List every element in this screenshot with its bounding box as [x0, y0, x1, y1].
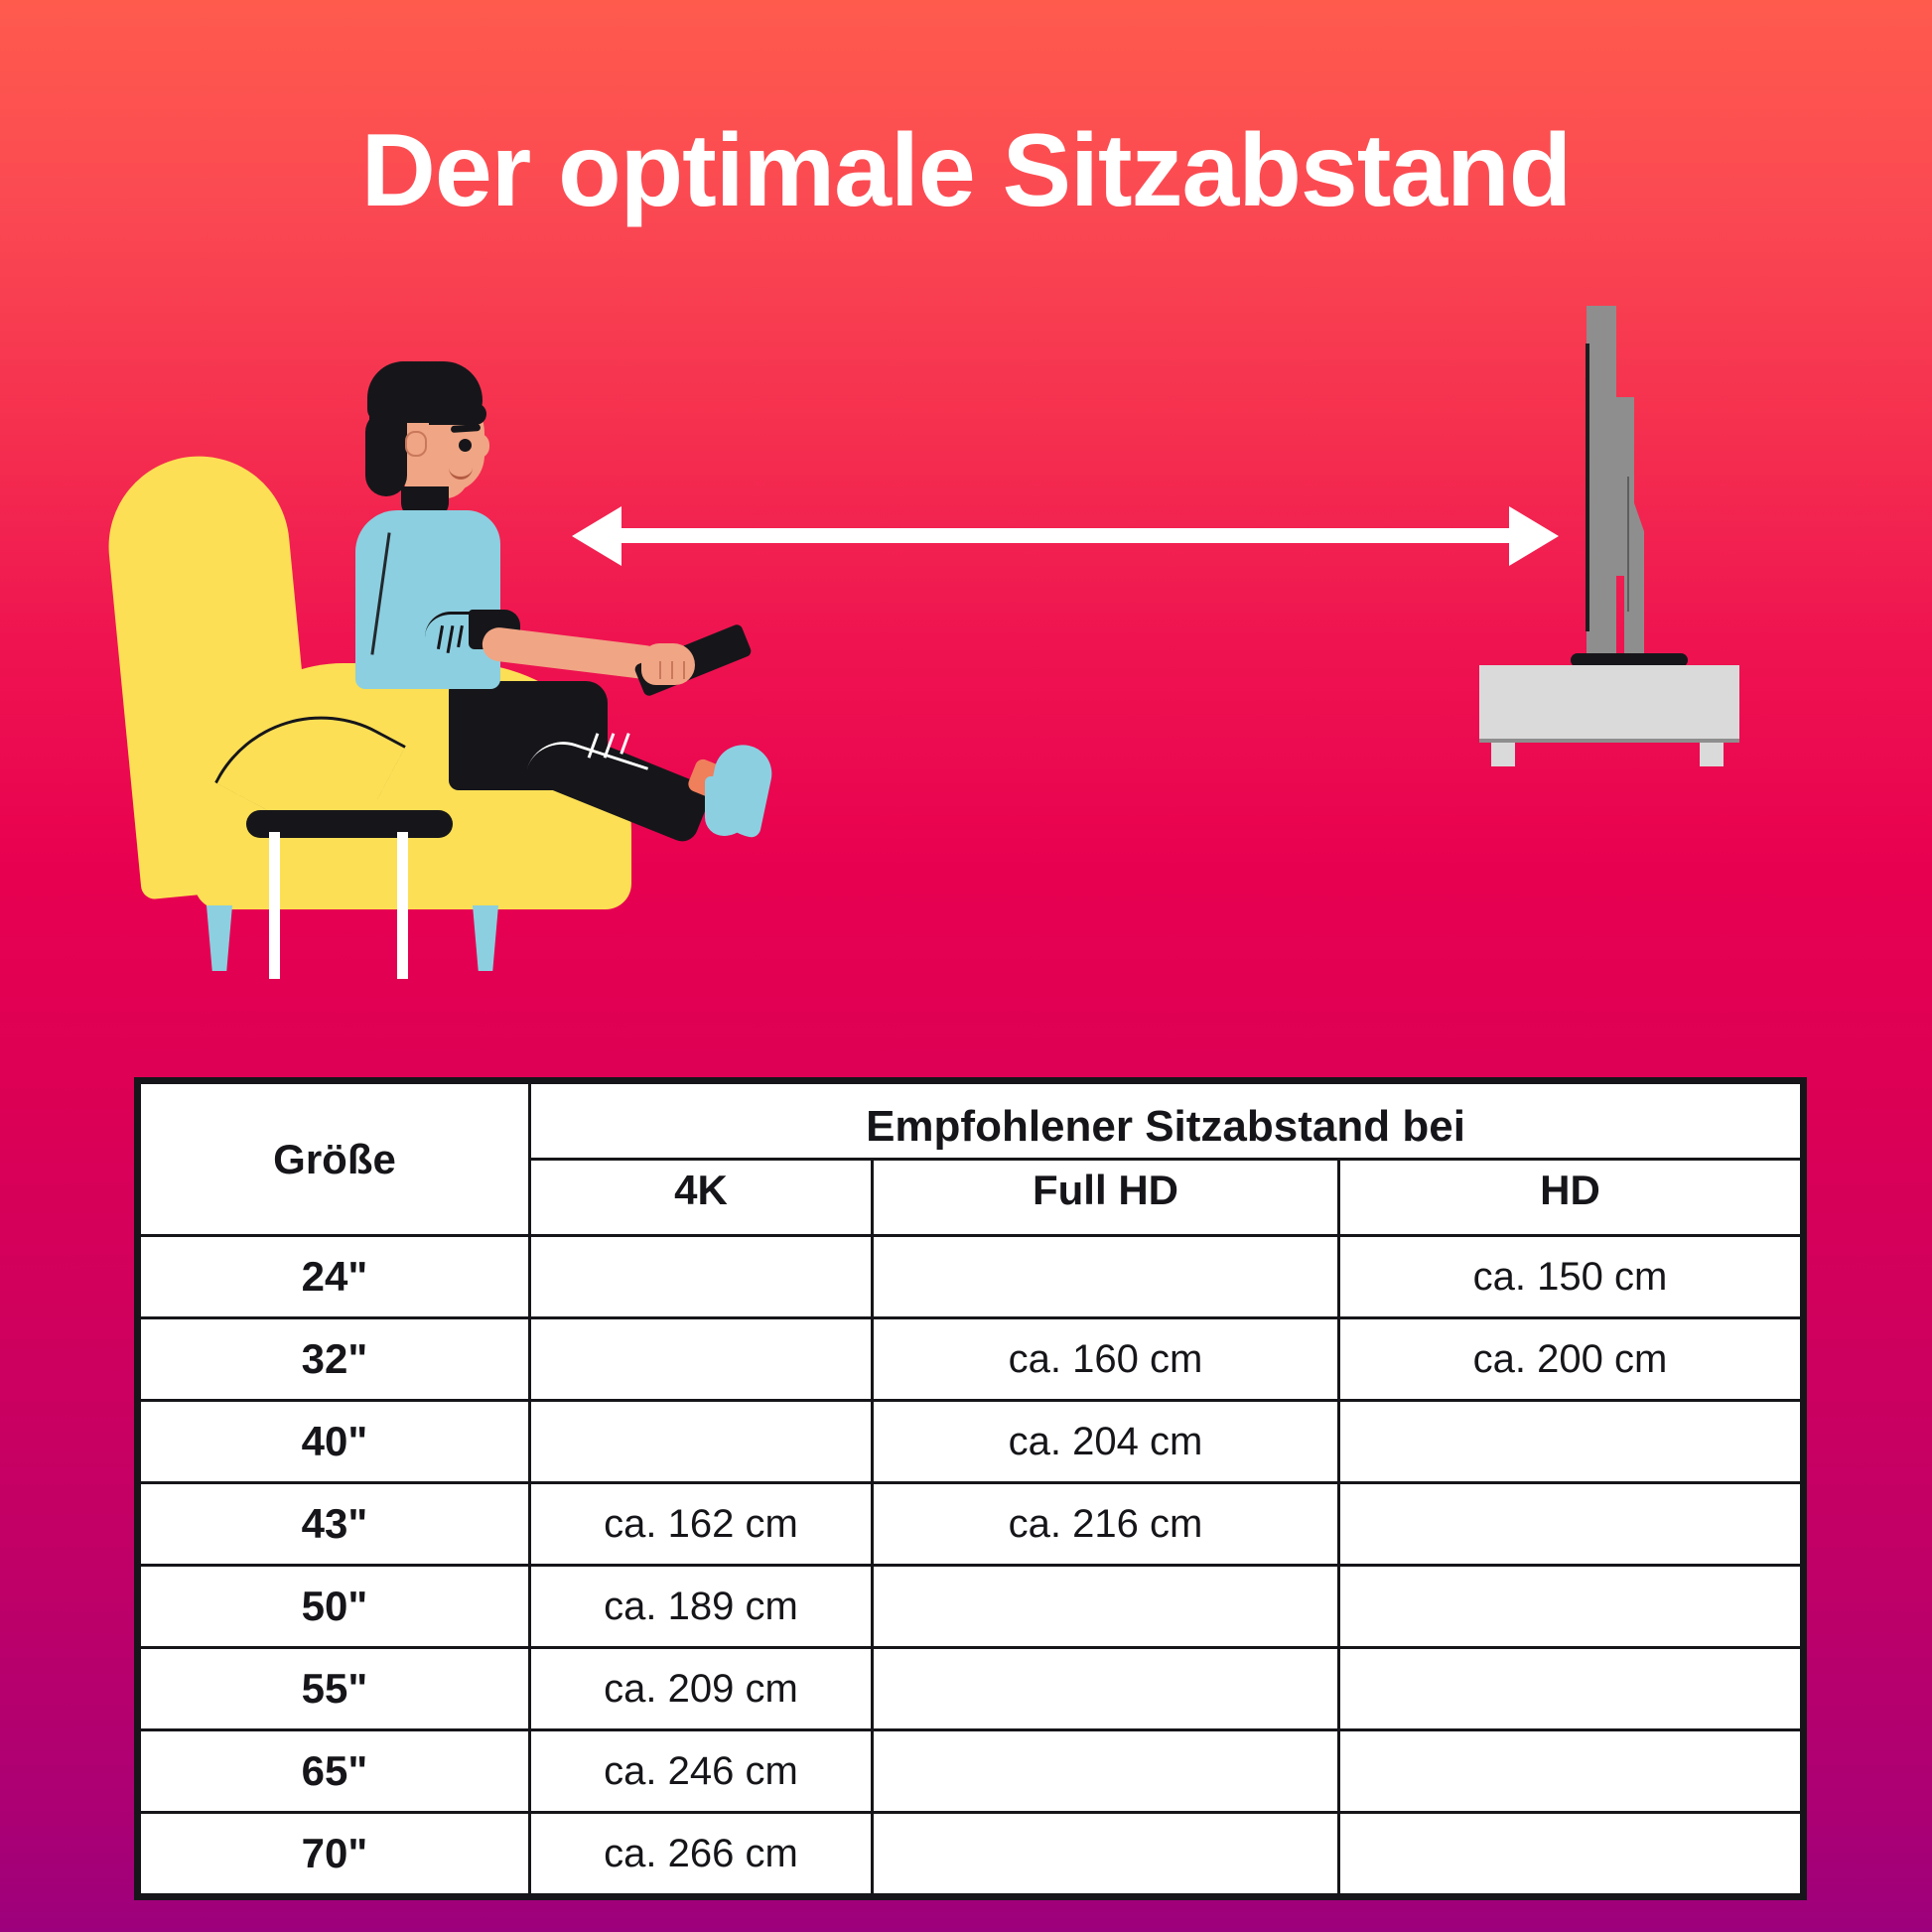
cell-hd: ca. 150 cm — [1339, 1236, 1804, 1318]
cell-size: 40" — [138, 1401, 530, 1483]
person-finger — [671, 661, 673, 679]
cell-hd — [1339, 1730, 1804, 1813]
cell-hd — [1339, 1483, 1804, 1566]
person-hair-fringe — [429, 403, 486, 425]
cell-4k: ca. 209 cm — [530, 1648, 873, 1730]
person-trouser-fold — [620, 733, 629, 755]
tv-cabinet — [1479, 665, 1739, 741]
cell-4k: ca. 162 cm — [530, 1483, 873, 1566]
cell-size: 55" — [138, 1648, 530, 1730]
armchair-leg-back — [473, 905, 498, 971]
tv-screen-edge — [1586, 344, 1589, 631]
column-group-header: Empfohlener Sitzabstand bei — [530, 1081, 1804, 1160]
seating-distance-table-wrapper: Größe Empfohlener Sitzabstand bei 4K Ful… — [134, 1077, 1800, 1900]
column-header-fullhd: Full HD — [873, 1160, 1339, 1236]
cell-fullhd — [873, 1813, 1339, 1897]
table-row: 50" ca. 189 cm — [138, 1566, 1804, 1648]
tv-cabinet-leg-right — [1700, 743, 1724, 766]
seating-distance-table: Größe Empfohlener Sitzabstand bei 4K Ful… — [134, 1077, 1807, 1900]
column-header-size: Größe — [138, 1081, 530, 1236]
illustration-scene — [0, 328, 1932, 1023]
cell-hd — [1339, 1401, 1804, 1483]
table-row: 32" ca. 160 cm ca. 200 cm — [138, 1318, 1804, 1401]
cell-hd: ca. 200 cm — [1339, 1318, 1804, 1401]
cell-hd — [1339, 1813, 1804, 1897]
distance-arrow-head-right — [1509, 506, 1559, 566]
cell-fullhd: ca. 216 cm — [873, 1483, 1339, 1566]
table-body: 24" ca. 150 cm 32" ca. 160 cm ca. 200 cm… — [138, 1236, 1804, 1897]
column-header-hd: HD — [1339, 1160, 1804, 1236]
table-row: 43" ca. 162 cm ca. 216 cm — [138, 1483, 1804, 1566]
cell-fullhd — [873, 1236, 1339, 1318]
table-row: 24" ca. 150 cm — [138, 1236, 1804, 1318]
person-eye — [459, 439, 472, 452]
table-row: 55" ca. 209 cm — [138, 1648, 1804, 1730]
cell-4k: ca. 189 cm — [530, 1566, 873, 1648]
person-hair-side — [365, 411, 407, 496]
distance-arrow-shaft — [592, 528, 1515, 543]
person-finger — [683, 661, 685, 679]
table-row: 40" ca. 204 cm — [138, 1401, 1804, 1483]
distance-arrow-head-left — [572, 506, 621, 566]
tv-cabinet-leg-left — [1491, 743, 1515, 766]
cell-hd — [1339, 1648, 1804, 1730]
table-head: Größe Empfohlener Sitzabstand bei 4K Ful… — [138, 1081, 1804, 1236]
person-torso-shirt — [355, 510, 500, 689]
table-row: 70" ca. 266 cm — [138, 1813, 1804, 1897]
cell-fullhd — [873, 1648, 1339, 1730]
armchair-leg-front — [207, 905, 232, 971]
cell-hd — [1339, 1566, 1804, 1648]
cell-4k: ca. 246 cm — [530, 1730, 873, 1813]
cell-fullhd — [873, 1730, 1339, 1813]
cell-size: 65" — [138, 1730, 530, 1813]
cell-size: 24" — [138, 1236, 530, 1318]
table-header-row-group: Größe Empfohlener Sitzabstand bei — [138, 1081, 1804, 1160]
cell-size: 32" — [138, 1318, 530, 1401]
column-header-4k: 4K — [530, 1160, 873, 1236]
page-title: Der optimale Sitzabstand — [0, 117, 1932, 225]
cell-size: 43" — [138, 1483, 530, 1566]
cell-4k — [530, 1401, 873, 1483]
tv-stand-seam — [1627, 477, 1629, 612]
cell-fullhd — [873, 1566, 1339, 1648]
cell-4k: ca. 266 cm — [530, 1813, 873, 1897]
footstool-leg-right — [397, 832, 408, 979]
footstool-leg-left — [269, 832, 280, 979]
table-row: 65" ca. 246 cm — [138, 1730, 1804, 1813]
person-hand — [641, 643, 695, 685]
person-ear — [405, 431, 427, 457]
cell-4k — [530, 1236, 873, 1318]
cell-fullhd: ca. 160 cm — [873, 1318, 1339, 1401]
cell-fullhd: ca. 204 cm — [873, 1401, 1339, 1483]
cell-size: 50" — [138, 1566, 530, 1648]
cell-4k — [530, 1318, 873, 1401]
person-finger — [659, 661, 661, 679]
infographic-poster: Der optimale Sitzabstand — [0, 0, 1932, 1932]
cell-size: 70" — [138, 1813, 530, 1897]
